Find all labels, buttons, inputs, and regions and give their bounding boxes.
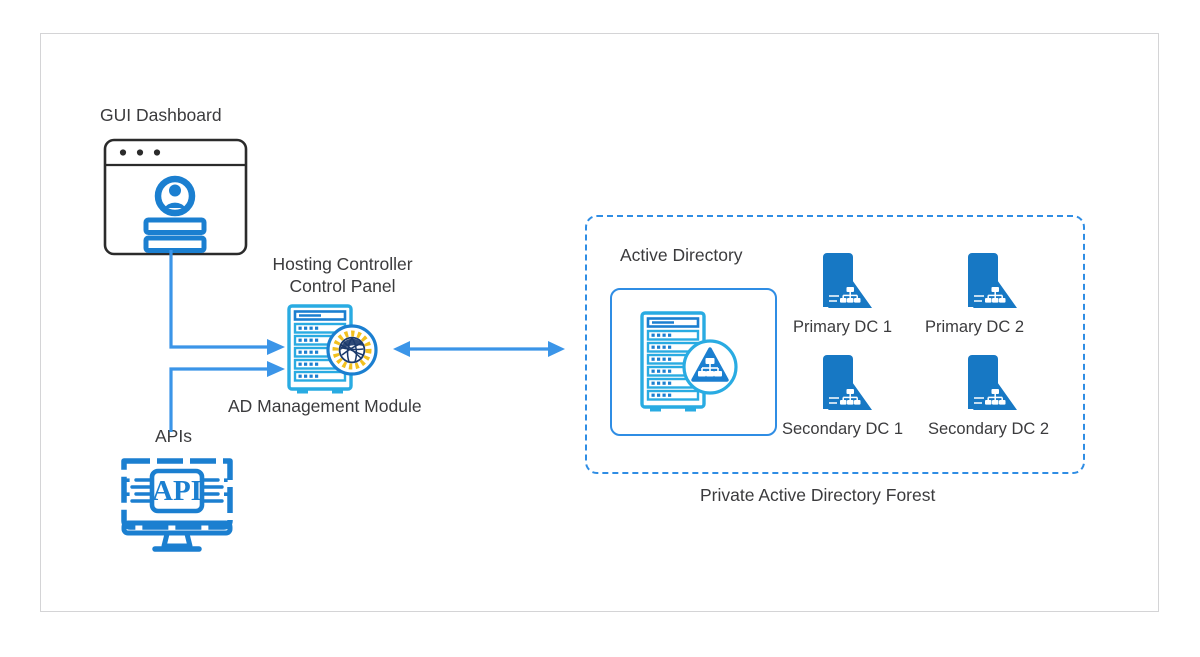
ad-management-module-label: AD Management Module (228, 395, 422, 417)
domain-controller-icon-0 (818, 253, 874, 311)
domain-controller-label-2: Secondary DC 1 (782, 420, 903, 439)
active-directory-label: Active Directory (620, 244, 743, 266)
private-ad-forest-label: Private Active Directory Forest (700, 484, 935, 506)
architecture-diagram: GUI Dashboard APIs (0, 0, 1200, 657)
domain-controller-icon-1 (963, 253, 1019, 311)
domain-controller-icon-3 (963, 355, 1019, 413)
hosting-controller-label-line2: Control Panel (255, 275, 430, 297)
domain-controller-label-3: Secondary DC 2 (928, 420, 1049, 439)
connector-controller-to-ad (393, 336, 565, 362)
api-icon-text: API (152, 475, 202, 507)
hosting-controller-icon (285, 303, 385, 398)
gui-dashboard-label: GUI Dashboard (100, 104, 222, 126)
domain-controller-label-0: Primary DC 1 (793, 318, 892, 337)
hosting-controller-label-line1: Hosting Controller (255, 253, 430, 275)
active-directory-icon (638, 310, 748, 418)
domain-controller-icon-2 (818, 355, 874, 413)
gui-dashboard-icon (103, 138, 248, 256)
api-monitor-icon: API (118, 455, 236, 555)
domain-controller-label-1: Primary DC 2 (925, 318, 1024, 337)
